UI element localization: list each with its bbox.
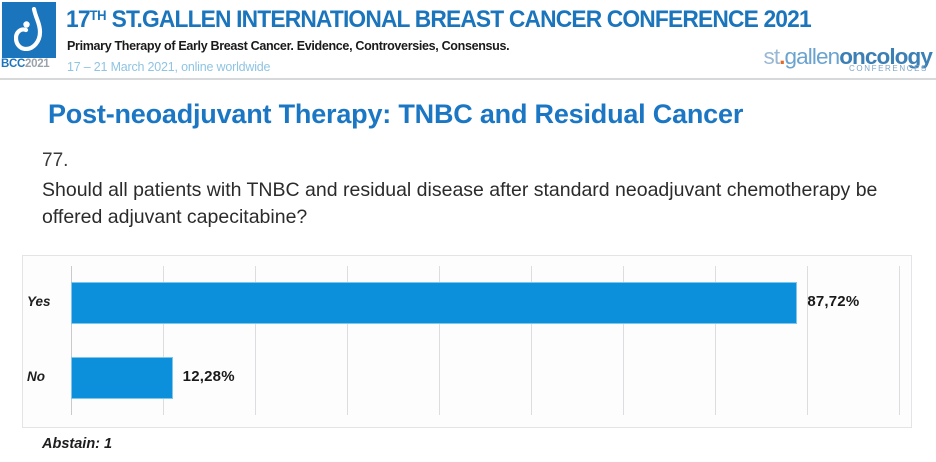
breast-cancer-droplet-logo-icon — [2, 2, 56, 58]
chart-category-label: Yes — [27, 294, 51, 309]
brand-part1: st — [763, 44, 779, 69]
chart-value-label: 12,28% — [183, 368, 235, 385]
question-text: Should all patients with TNBC and residu… — [42, 177, 902, 231]
conference-title-ordinal: 17 — [66, 6, 90, 33]
conference-dates: 17 – 21 March 2021, online worldwide — [67, 59, 270, 74]
logo-badge: BCC2021 — [1, 58, 49, 71]
chart-bar — [71, 282, 797, 324]
chart-gridline — [807, 266, 808, 415]
chart-plot-area: Yes87,72%No12,28% — [71, 266, 900, 415]
logo-badge-prefix: BCC — [1, 58, 25, 70]
conference-title-ordinal-suffix: TH — [90, 7, 106, 23]
logo-badge-year: 2021 — [25, 58, 49, 70]
conference-title: 17TH ST.GALLEN INTERNATIONAL BREAST CANC… — [66, 6, 811, 34]
conference-logo: BCC2021 — [0, 0, 58, 78]
brand-part2: gallen — [785, 44, 840, 69]
presentation-slide: BCC2021 17TH ST.GALLEN INTERNATIONAL BRE… — [0, 0, 936, 462]
droplet-icon — [14, 7, 44, 51]
chart-category-label: No — [27, 369, 45, 384]
poll-results-chart: Yes87,72%No12,28% — [22, 255, 912, 428]
question-number: 77. — [42, 150, 68, 172]
chart-bar — [71, 357, 173, 399]
page-title: Post-neoadjuvant Therapy: TNBC and Resid… — [48, 99, 743, 130]
conference-header: BCC2021 17TH ST.GALLEN INTERNATIONAL BRE… — [0, 0, 936, 80]
conference-subtitle: Primary Therapy of Early Breast Cancer. … — [67, 38, 509, 53]
abstain-label: Abstain: 1 — [42, 436, 112, 452]
chart-gridline — [899, 266, 900, 415]
st-gallen-oncology-logo: st.gallenoncology CONFERENCES — [752, 46, 932, 78]
conference-title-rest: ST.GALLEN INTERNATIONAL BREAST CANCER CO… — [106, 6, 811, 33]
chart-value-label: 87,72% — [807, 293, 859, 310]
